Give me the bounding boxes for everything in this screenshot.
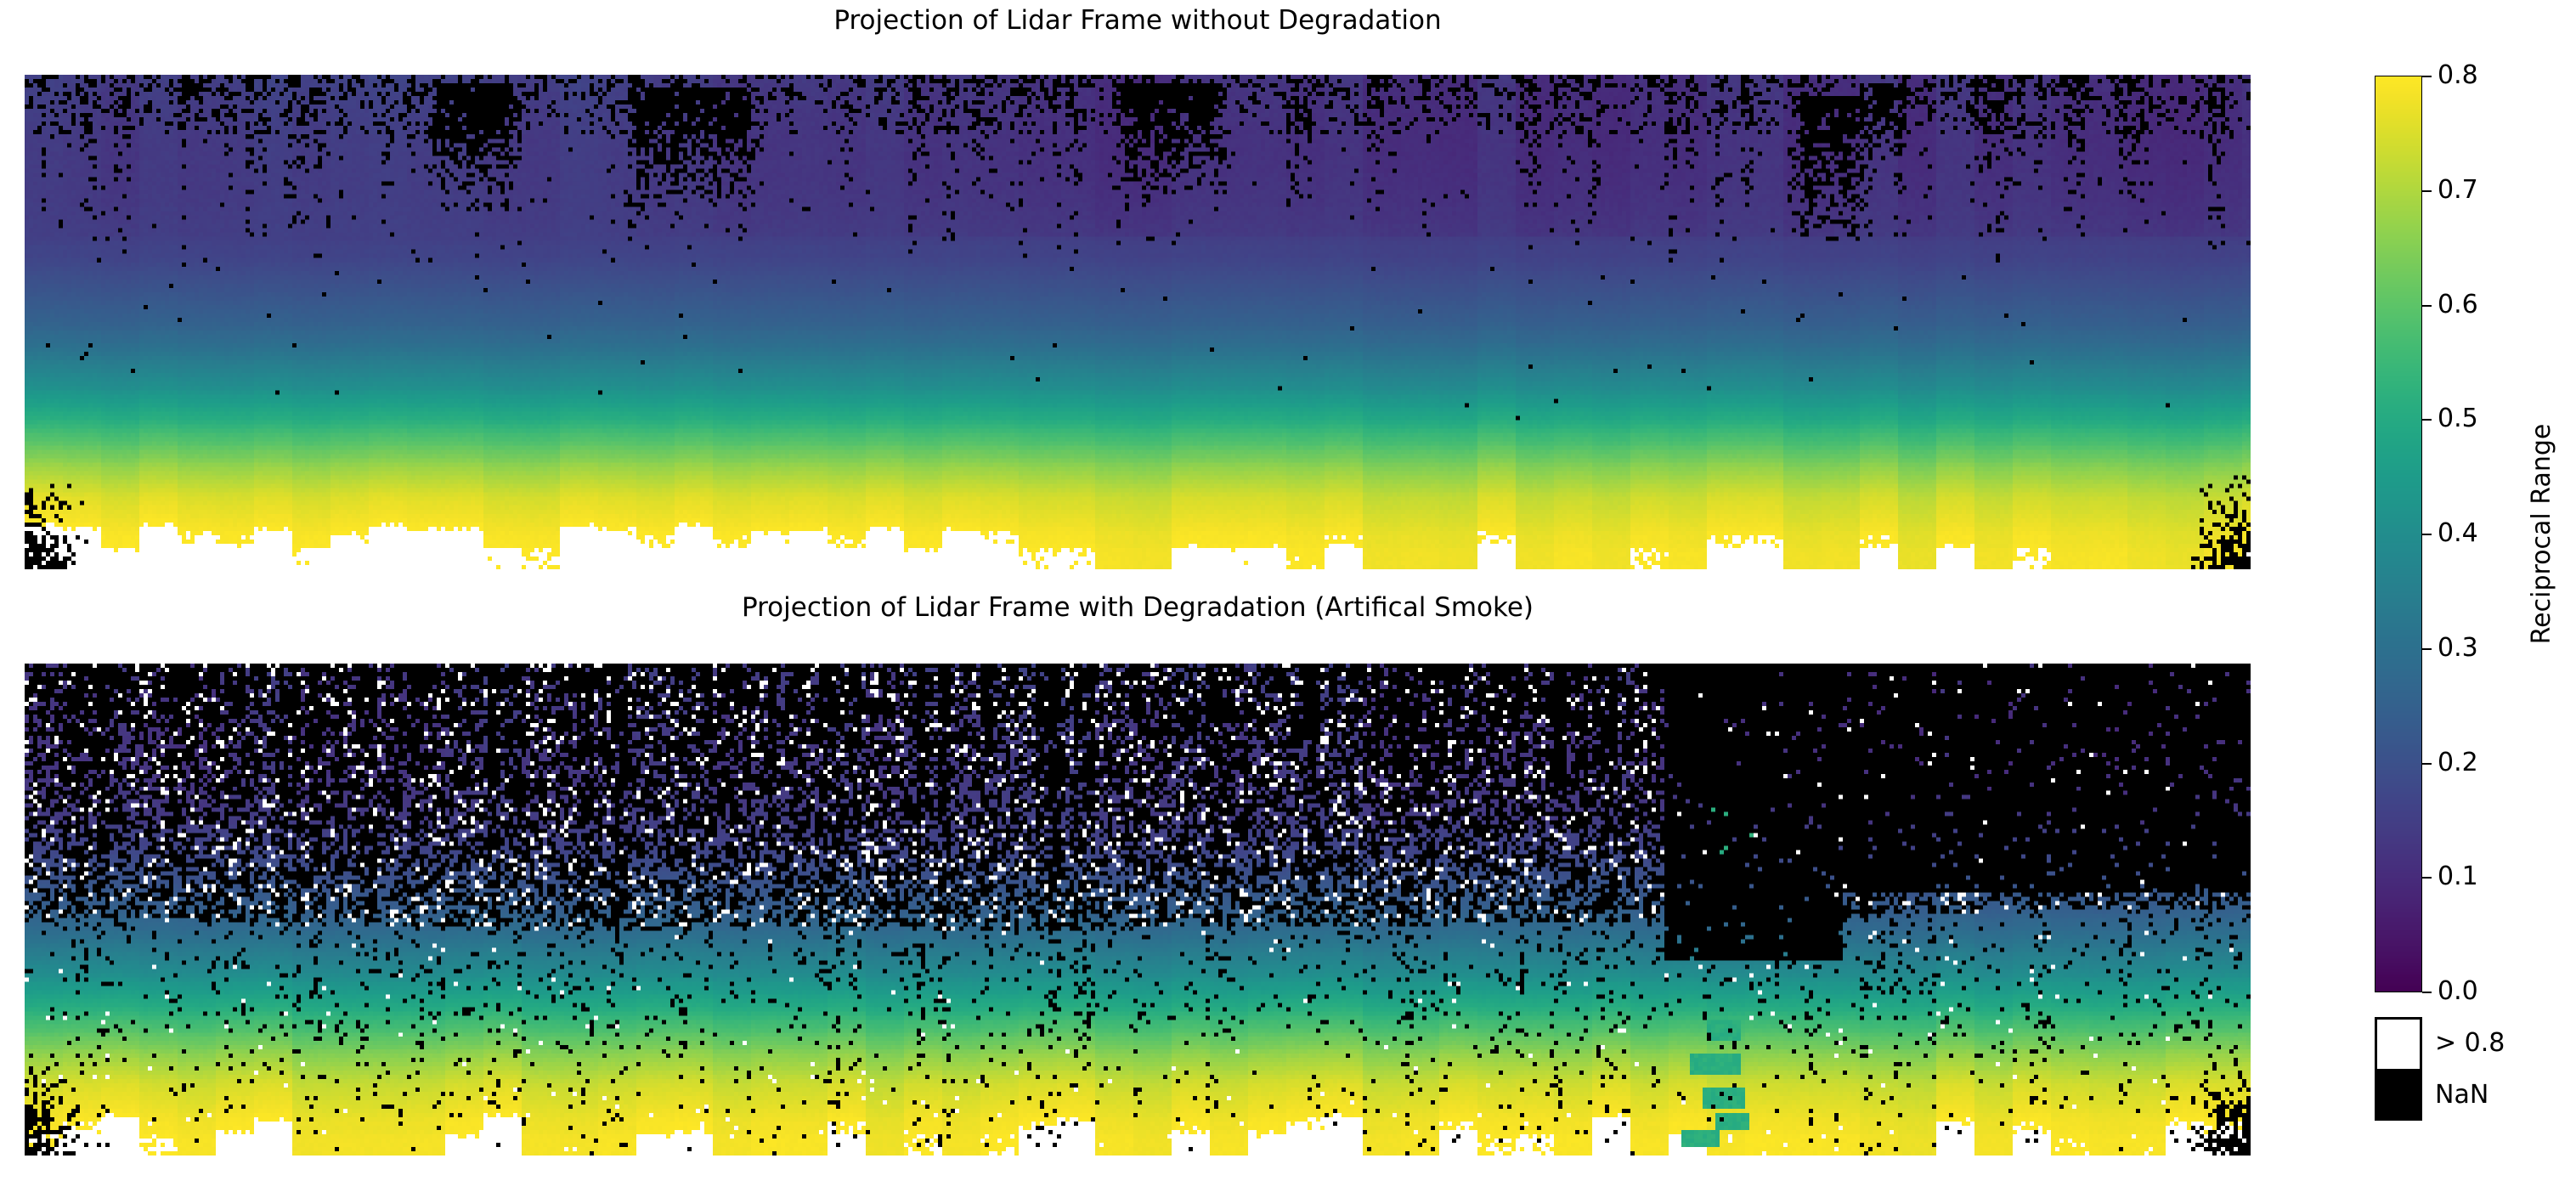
colorbar: 0.00.10.20.30.40.50.60.70.8 [2375, 76, 2422, 992]
panel-title-without-degradation: Projection of Lidar Frame without Degrad… [25, 6, 2251, 35]
colorbar-tick [2422, 534, 2432, 535]
nan-label: NaN [2435, 1082, 2488, 1108]
colorbar-tick-label: 0.0 [2438, 979, 2478, 1004]
colorbar-tick [2422, 992, 2432, 993]
range-image-canvas-bottom [25, 664, 2251, 1156]
panel-title-with-degradation: Projection of Lidar Frame with Degradati… [25, 593, 2251, 622]
range-image-canvas-top [25, 75, 2251, 569]
colorbar-tick [2422, 419, 2432, 421]
colorbar-axis-label: Reciprocal Range [2523, 76, 2561, 992]
colorbar-tick [2422, 763, 2432, 765]
colorbar-tick-label: 0.3 [2438, 636, 2478, 661]
extra-legend-swatches [2375, 1017, 2422, 1121]
colorbar-tick-label: 0.8 [2438, 63, 2478, 88]
nan-swatch [2377, 1069, 2420, 1118]
colorbar-gradient [2375, 76, 2422, 992]
colorbar-tick-label: 0.7 [2438, 178, 2478, 203]
colorbar-tick-label: 0.5 [2438, 406, 2478, 432]
lidar-projection-figure: Projection of Lidar Frame without Degrad… [0, 0, 2576, 1181]
colorbar-tick [2422, 190, 2432, 192]
colorbar-tick-label: 0.6 [2438, 292, 2478, 318]
colorbar-tick-label: 0.1 [2438, 864, 2478, 890]
colorbar-tick [2422, 305, 2432, 307]
over-range-swatch [2377, 1020, 2420, 1069]
over-range-label: > 0.8 [2435, 1031, 2505, 1056]
colorbar-tick [2422, 76, 2432, 77]
range-image-without-degradation [25, 75, 2251, 569]
colorbar-tick-label: 0.4 [2438, 521, 2478, 546]
colorbar-tick-label: 0.2 [2438, 750, 2478, 776]
colorbar-tick [2422, 877, 2432, 879]
range-image-with-degradation [25, 664, 2251, 1156]
colorbar-tick [2422, 648, 2432, 650]
